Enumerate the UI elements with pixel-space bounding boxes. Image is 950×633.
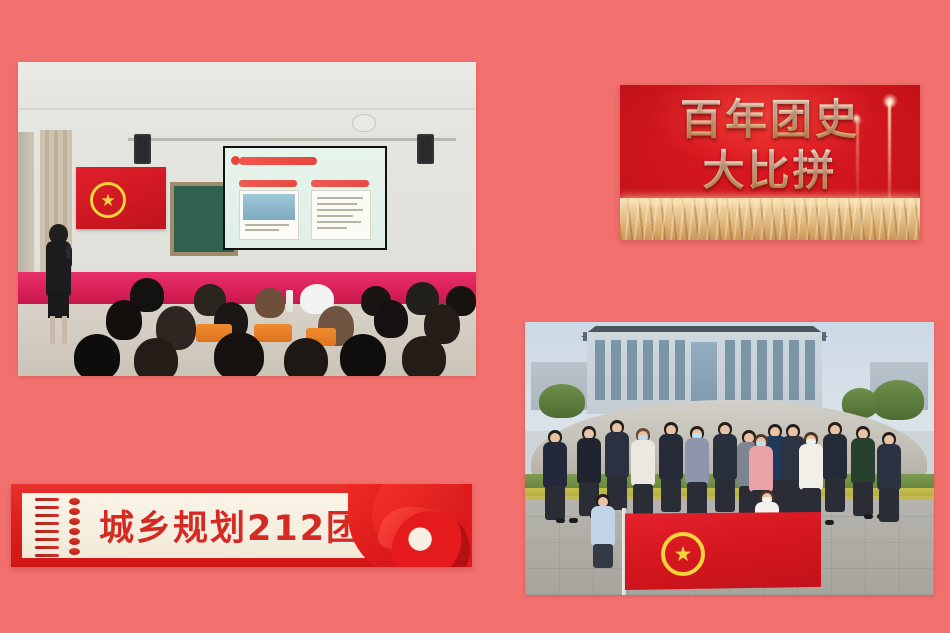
slide-card-right [311,190,371,240]
branch-name-banner[interactable]: 城乡规划212团支部 [11,484,472,567]
building-window [789,340,799,400]
building-window [659,340,669,400]
window-curtain-edge [18,132,34,282]
hero-title-line-2: 大比拼 [620,148,920,193]
binding-dots-decoration [67,498,81,553]
person-legs [593,544,613,568]
youth-league-flag: ★ [76,167,166,229]
star-glyph: ★ [100,192,115,209]
youth-league-emblem-icon: ★ [661,532,705,576]
photo-group-portrait[interactable]: ★ [525,322,934,595]
building-window [675,340,685,400]
person-legs [607,476,627,510]
audience-head [284,338,328,376]
person-shoe [556,518,565,523]
audience-head [402,336,446,376]
audience-head [74,334,120,376]
slide-caption-line [245,229,279,231]
slide-text-line [317,209,363,211]
projector-screen [225,148,385,248]
hero-title-line-1: 百年团史 [620,97,920,142]
audience-head [340,334,386,376]
presenter-leg [50,316,55,344]
tree [872,380,924,420]
person-legs [687,482,707,516]
binding-lines-decoration [35,498,61,553]
person-torso [749,446,773,492]
person-torso [799,444,823,490]
slide-text-line [317,221,361,223]
audience-head [106,300,142,340]
youth-league-flag: ★ [625,512,821,590]
building-window [773,340,783,400]
slide-card-left [239,190,299,240]
person-torso [659,434,683,480]
person-legs [661,478,681,512]
person-shoe [864,514,873,519]
slide-photo-thumb [243,194,295,220]
slide-text-line [317,215,353,217]
dome-light-icon [352,114,376,132]
person-legs [545,486,565,520]
audience-head [214,332,264,376]
hero-text-block: 百年团史 大比拼 [620,97,920,194]
building-window [611,340,621,400]
building-window [725,340,735,400]
slide-text-line [317,197,363,199]
building-window [595,340,605,400]
person-torso [591,506,615,546]
audience-head [374,300,408,338]
water-bottle [286,290,293,312]
person-torso [713,434,737,480]
branch-name-text-wrap: 城乡规划212团支部 [99,484,322,567]
person-torso [577,438,601,484]
person-legs [825,478,845,512]
building-window [805,340,815,400]
person-legs [715,478,735,512]
person-torso [685,438,709,484]
slide-subheading-left [239,180,297,187]
person-legs [879,488,899,522]
projector-screen-frame [223,146,387,250]
classroom-ceiling [18,62,476,108]
banner-stage-floor [620,198,920,240]
person-torso [631,440,655,486]
speaker-icon [417,134,434,164]
slide-caption-line [245,224,289,226]
person-shoe [825,520,834,525]
slide-subheading-right [311,180,369,187]
person-torso [605,432,629,478]
building-window [627,340,637,400]
wall-seam-line [18,108,476,110]
presenter-leg [62,316,67,344]
microphone-icon [66,246,71,259]
person-torso [851,438,875,484]
person-torso [877,444,901,490]
youth-league-emblem-icon: ★ [90,182,126,218]
slide-text-line [317,203,357,205]
person-legs [633,484,653,518]
hero-title-banner[interactable]: 百年团史 大比拼 [620,85,920,240]
audience-head [255,288,285,318]
person-torso [823,434,847,480]
audience-head [134,338,178,376]
building-window [757,340,767,400]
slide-text-line [317,227,347,229]
building-window [643,340,653,400]
presenter-figure [44,224,74,346]
seat [254,324,292,342]
person-torso [543,442,567,488]
presenter-skirt [48,292,69,318]
person-shoe [569,518,578,523]
slide-heading-bar [239,157,317,165]
tree [539,384,585,418]
slide-canvas: ★ [0,0,950,633]
photo-classroom-presentation[interactable]: ★ [18,62,476,376]
star-glyph: ★ [674,544,693,565]
projector-rail [128,138,456,141]
building-window [741,340,751,400]
person-legs [853,482,873,516]
speaker-icon [134,134,151,164]
